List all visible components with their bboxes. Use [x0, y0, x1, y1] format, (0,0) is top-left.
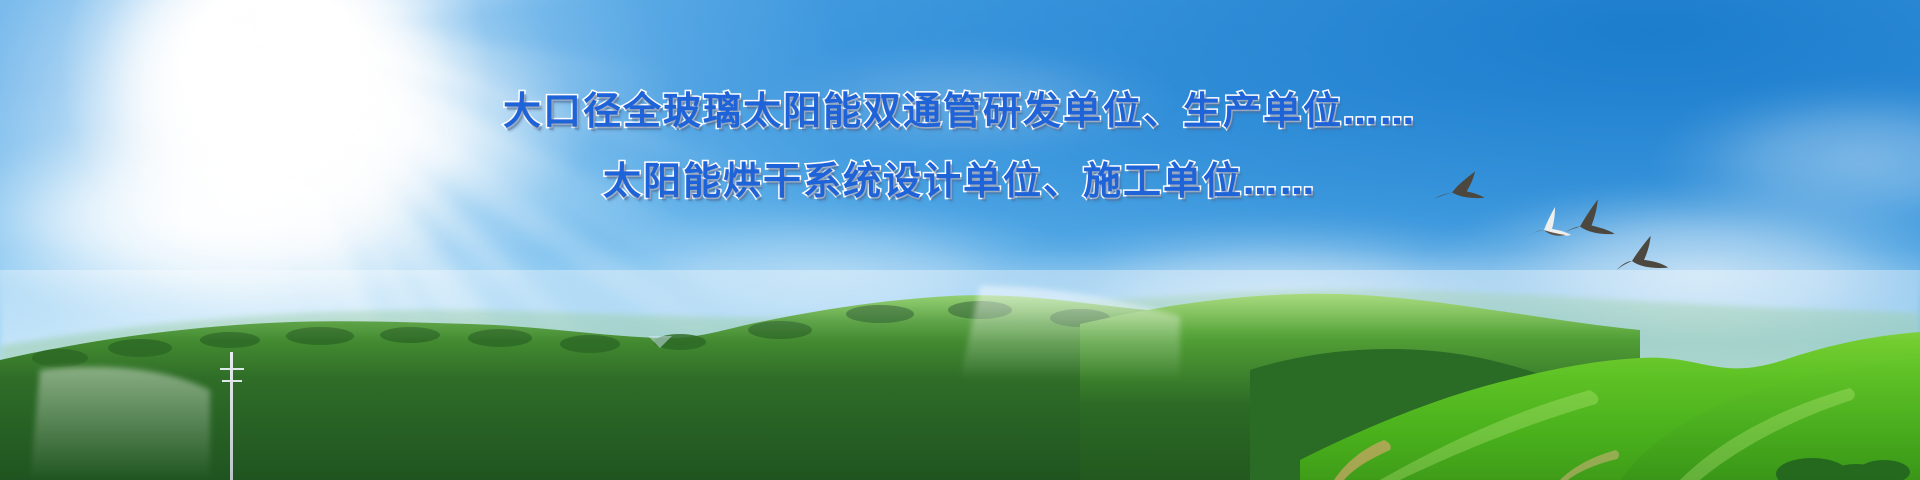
pole-crossarm-lower — [222, 380, 242, 382]
pole-crossarm-upper — [220, 368, 244, 370]
utility-pole — [212, 352, 252, 480]
promotional-banner: 大口径全玻璃太阳能双通管研发单位、生产单位…… 太阳能烘干系统设计单位、施工单位… — [0, 0, 1920, 480]
left-sun-haze — [30, 367, 210, 480]
pole-mast — [230, 352, 233, 480]
landscape — [0, 250, 1920, 480]
